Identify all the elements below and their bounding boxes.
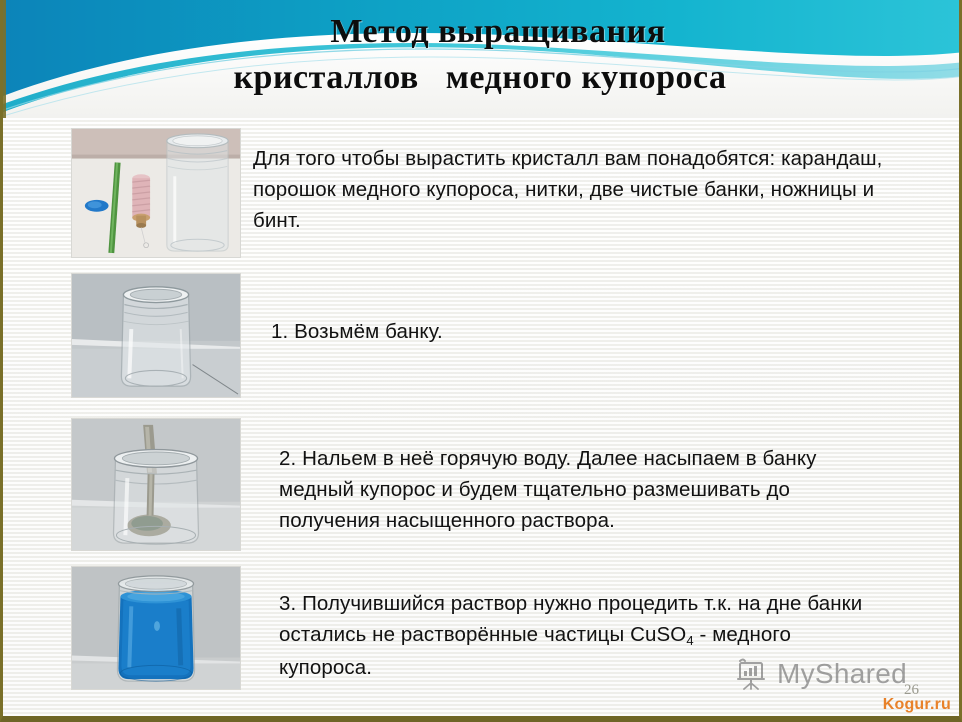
slide-header-banner [3,0,962,118]
step-row-2: 2. Нальем в неё горячую воду. Далее насы… [3,413,962,563]
header-wave-graphic [3,0,962,118]
step-row-1: 1. Возьмём банку. [3,268,962,413]
photo-jar-blue-solution [71,566,241,690]
photo-empty-jar-graphic [72,274,240,397]
step-text-2: 2. Нальем в неё горячую воду. Далее насы… [279,443,889,536]
kogur-attribution: Kogur.ru [883,696,951,714]
photo-jar-blue-solution-graphic [72,567,240,689]
step-row-3: 3. Получившийся раствор нужно процедить … [3,563,962,713]
step-text-1: 1. Возьмём банку. [271,316,891,347]
photo-empty-jar [71,273,241,398]
formula-subscript: 4 [686,633,693,648]
photo-pencil-thread-jar-graphic [72,129,240,257]
photo-jar-with-spoon-graphic [72,419,240,550]
photo-jar-with-spoon [71,418,241,551]
photo-pencil-thread-jar [71,128,241,258]
presentation-slide: Метод выращивания кристаллов медного куп… [0,0,962,722]
myshared-watermark-label: MyShared [777,658,907,690]
myshared-watermark: MyShared [734,658,907,690]
presentation-chart-icon [734,658,768,690]
step-row-materials: Для того чтобы вырастить кристалл вам по… [3,118,962,268]
step-text-materials: Для того чтобы вырастить кристалл вам по… [253,143,893,236]
